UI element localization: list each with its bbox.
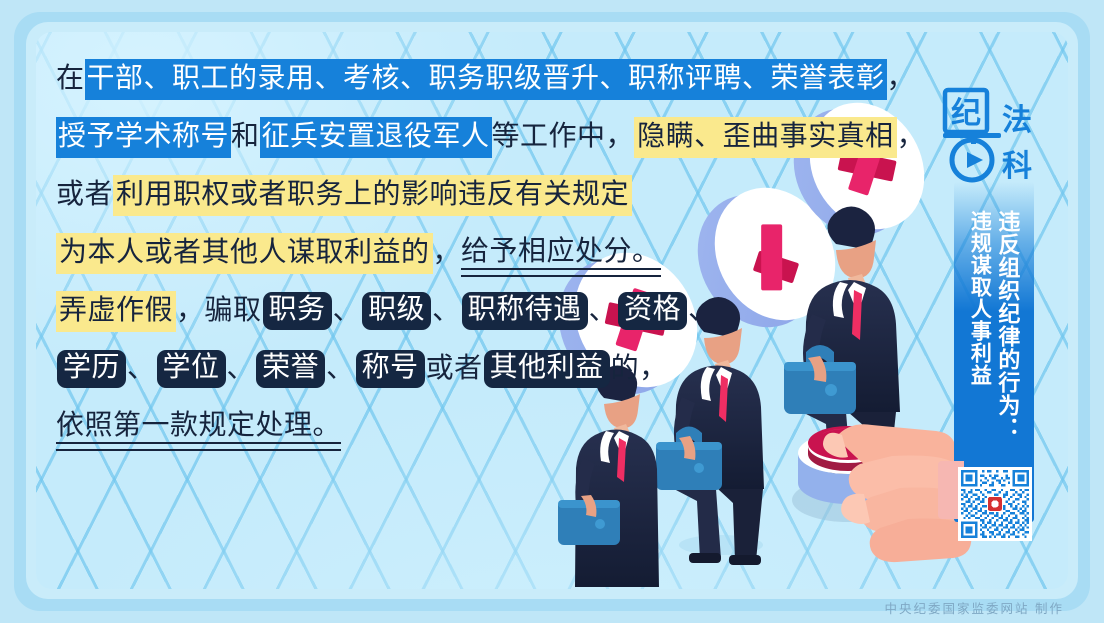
legal-text-block: 在干部、职工的录用、考核、职务职级晋升、职称评聘、荣誉表彰， 授予学术称号和征兵… [56,50,796,456]
segment-plain: 或者 [56,177,113,213]
segment-highlight-blue: 征兵安置退役军人 [260,117,492,158]
segment-highlight-blue: 授予学术称号 [56,117,231,158]
segment-plain: ， [887,61,916,97]
segment-double-underline: 依照第一款规定处理。 [56,412,341,442]
footer-credit: 中央纪委国家监委网站 制作 [885,598,1064,617]
segment-plain: 、 [127,351,156,387]
tag-pill: 资格 [618,292,687,330]
segment-plain: 的， [611,351,668,387]
cross-mark-disc-right [771,82,947,256]
segment-plain: 在 [56,61,85,97]
poster-inner-area: 在干部、职工的录用、考核、职务职级晋升、职称评聘、荣誉表彰， 授予学术称号和征兵… [36,32,1068,589]
text-line-6: 学历、学位、荣誉、称号或者其他利益的， [56,340,796,398]
tag-pill: 职称待遇 [462,292,588,330]
text-line-1: 在干部、职工的录用、考核、职务职级晋升、职称评聘、荣誉表彰， [56,50,796,108]
segment-plain: ， [176,293,205,329]
segment-plain: ， [897,119,926,155]
red-push-button[interactable] [792,426,904,522]
segment-plain: 、 [227,351,256,387]
segment-highlight-yellow: 利用职权或者职务上的影响违反有关规定 [113,175,632,216]
segment-plain: 、 [688,293,717,329]
play-icon [967,152,983,168]
poster-canvas: 在干部、职工的录用、考核、职务职级晋升、职称评聘、荣誉表彰， 授予学术称号和征兵… [0,0,1104,623]
logo-char-fa: 法 [1002,104,1032,137]
text-line-4: 为本人或者其他人谋取利益的，给予相应处分。 [56,224,796,282]
tag-pill: 学位 [157,350,226,388]
qr-code-image [961,470,1029,538]
segment-plain: 、 [326,351,355,387]
text-line-7: 依照第一款规定处理。 [56,398,796,456]
segment-plain: 和 [231,119,260,155]
tag-pill: 荣誉 [256,350,325,388]
segment-plain: 骗取 [205,293,262,329]
segment-double-underline: 给予相应处分。 [461,238,661,268]
segment-highlight-yellow: 弄虚作假 [56,291,176,332]
segment-plain: 、 [333,293,362,329]
segment-highlight-yellow: 为本人或者其他人谋取利益的 [56,233,433,274]
segment-highlight-yellow: 隐瞒、歪曲事实真相 [634,117,897,158]
text-line-2: 授予学术称号和征兵安置退役军人等工作中，隐瞒、歪曲事实真相， [56,108,796,166]
segment-plain: 等工作中， [492,119,635,155]
segment-plain: 、 [432,293,461,329]
logo-char-ji: 纪 [951,97,981,130]
tag-pill: 称号 [356,350,425,388]
tag-pill: 职务 [263,292,332,330]
businessman-figure-large [784,206,900,493]
tag-pill: 其他利益 [484,350,610,388]
segment-plain: 或者 [426,351,483,387]
segment-plain: ， [433,235,462,271]
text-line-5: 弄虚作假，骗取职务、职级、职称待遇、资格、 [56,282,796,340]
tag-pill: 职级 [362,292,431,330]
logo-char-ke: 科 [1002,150,1032,183]
text-line-3: 或者利用职权或者职务上的影响违反有关规定 [56,166,796,224]
qr-code[interactable] [958,467,1032,541]
tag-pill: 学历 [57,350,126,388]
brand-logo[interactable]: 纪 法 科 [942,84,1038,184]
segment-plain: 、 [589,293,618,329]
segment-highlight-blue: 干部、职工的录用、考核、职务职级晋升、职称评聘、荣誉表彰 [85,59,887,100]
